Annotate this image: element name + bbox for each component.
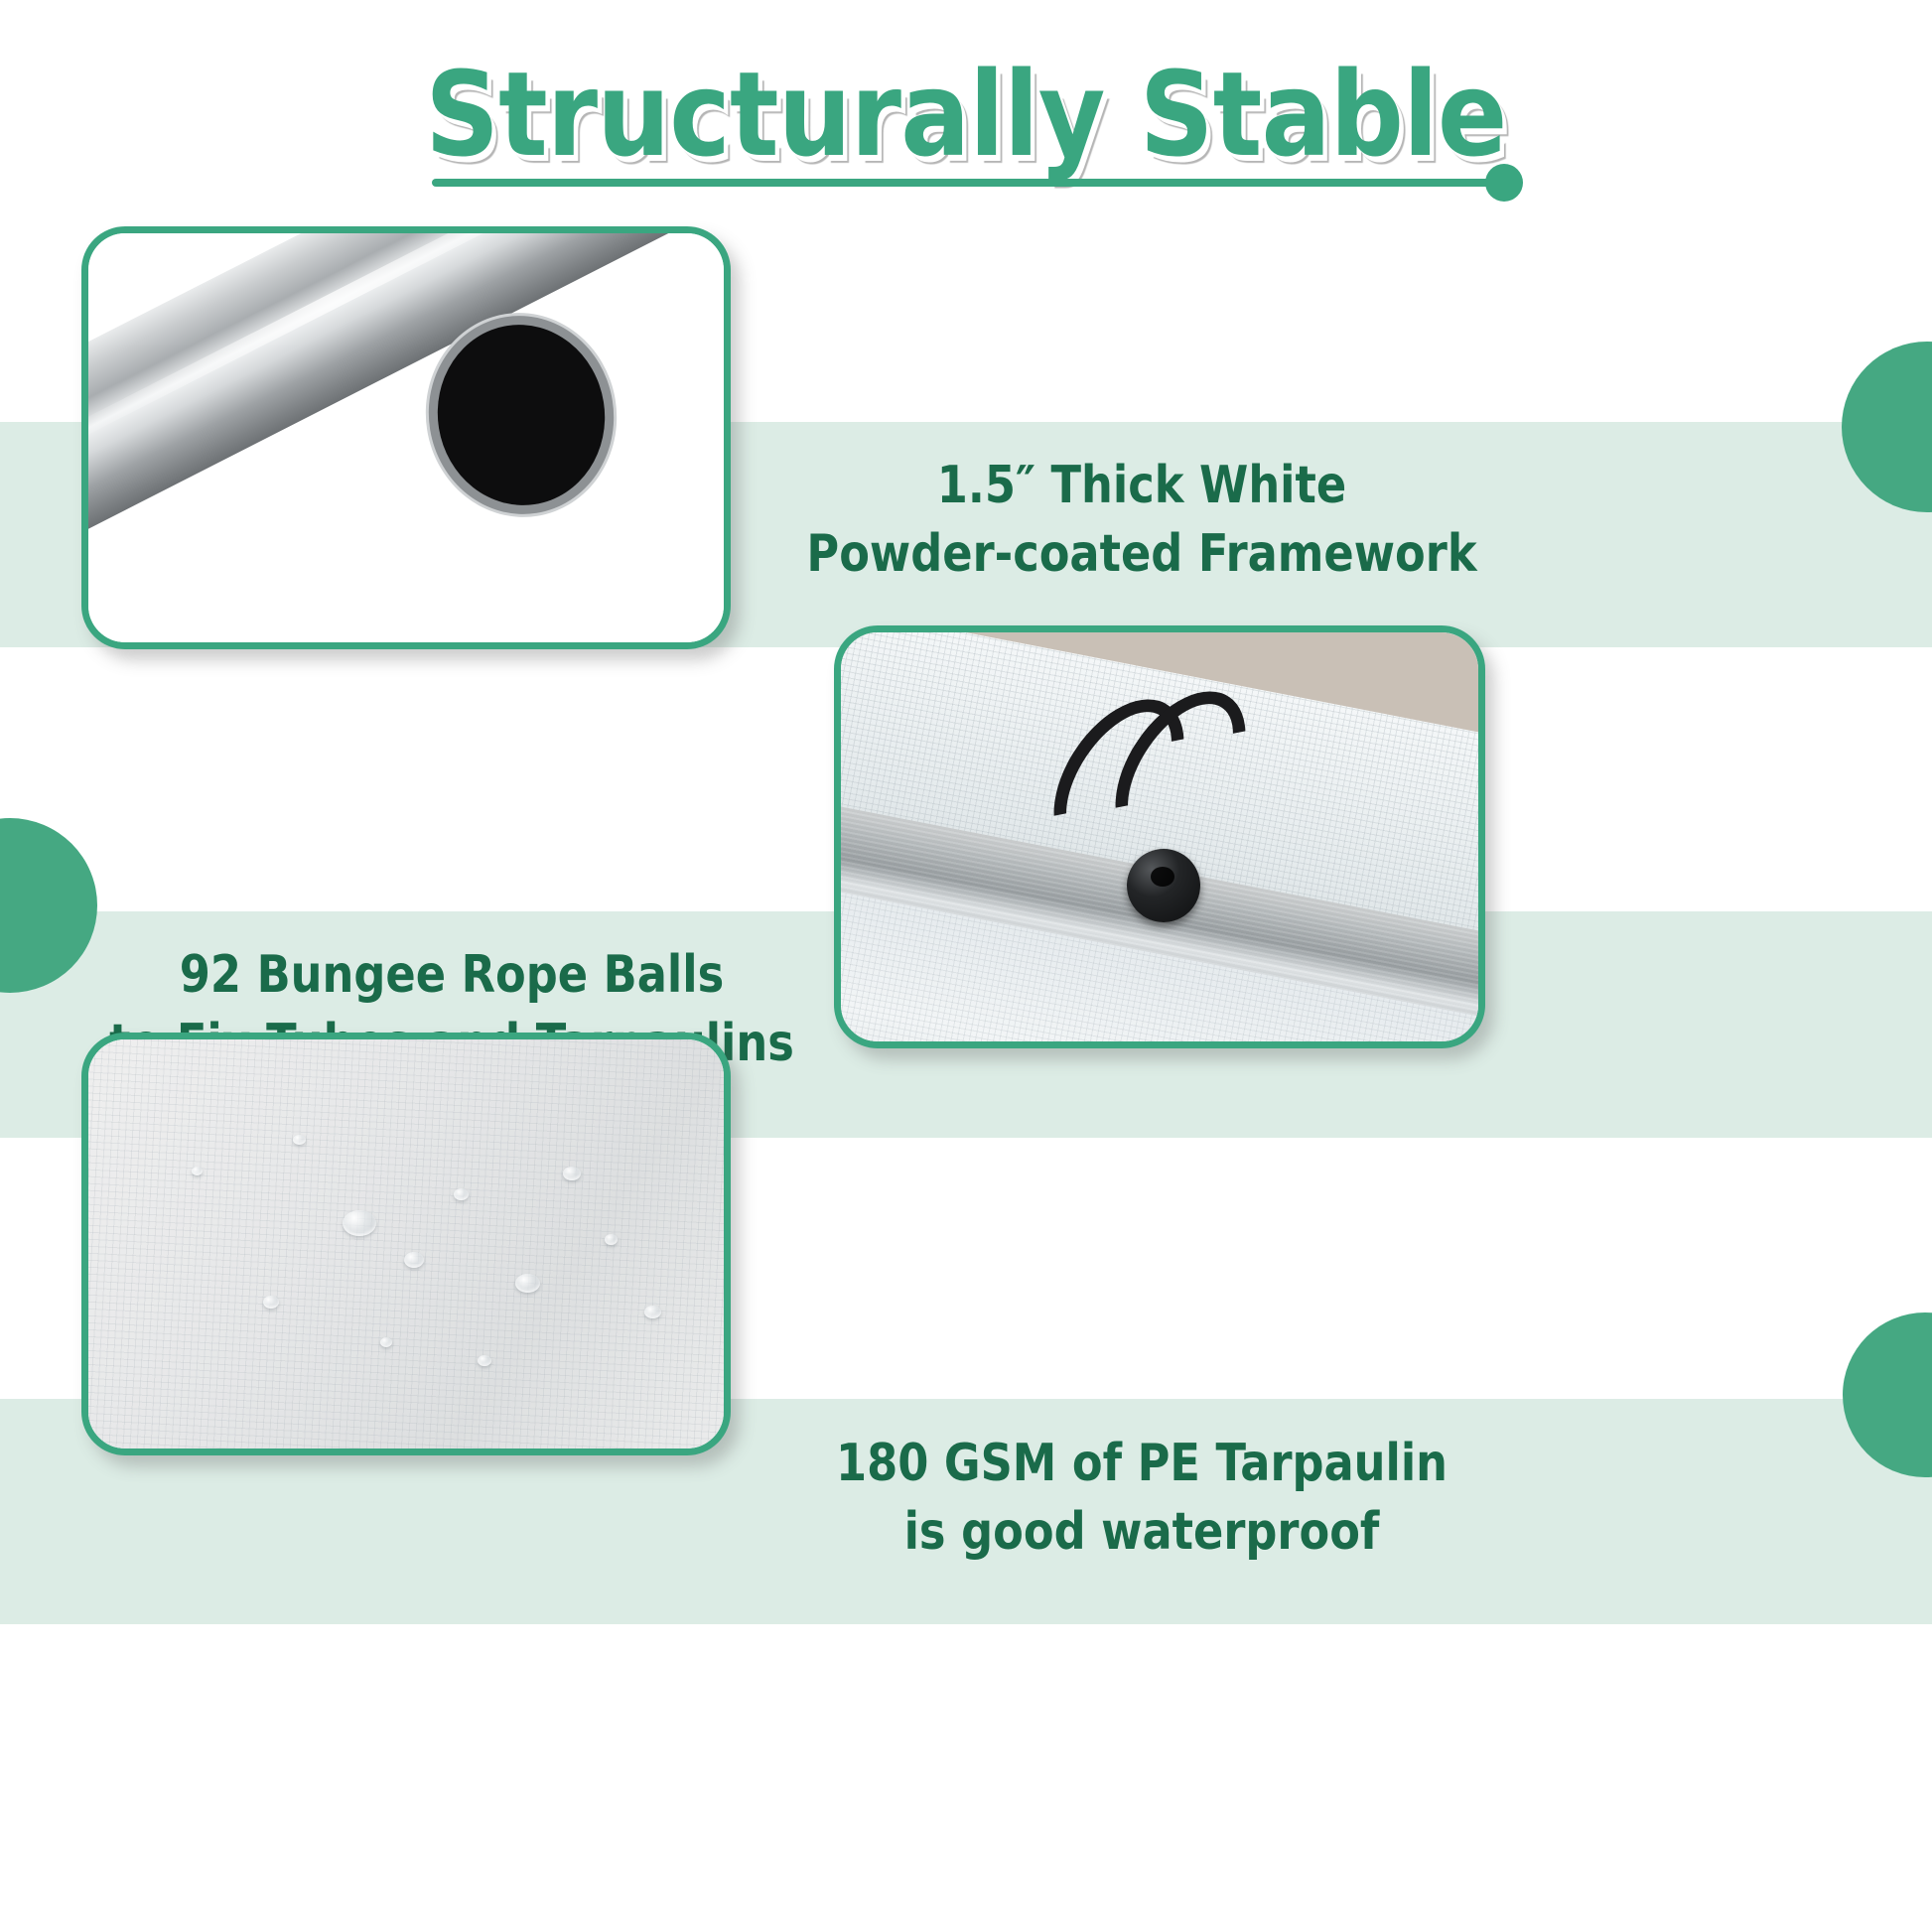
water-droplet: [293, 1135, 306, 1145]
feature-line-1: 180 GSM of PE Tarpaulin: [836, 1430, 1448, 1498]
infographic-stage: Structurally Stable 1.5″ Thick White Pow…: [0, 0, 1932, 1932]
page-title-wrap: Structurally Stable: [0, 52, 1932, 178]
water-droplet: [454, 1188, 469, 1200]
tarpaulin-fabric: [88, 1039, 724, 1449]
water-droplet: [263, 1296, 279, 1309]
photo-bungee: [841, 632, 1478, 1041]
feature-line-1: 1.5″ Thick White: [806, 452, 1476, 520]
water-droplet: [644, 1306, 661, 1318]
feature-text-framework: 1.5″ Thick White Powder-coated Framework: [806, 452, 1476, 588]
title-underline-rule: [432, 179, 1514, 187]
feature-text-tarpaulin: 180 GSM of PE Tarpaulin is good waterpro…: [836, 1430, 1448, 1566]
photo-framework: [88, 233, 724, 642]
feature-line-2: Powder-coated Framework: [806, 520, 1476, 589]
page-title: Structurally Stable: [425, 52, 1506, 178]
water-droplet: [343, 1210, 376, 1236]
photo-card-tarpaulin: [81, 1033, 731, 1455]
bungee-ball-hole: [1151, 867, 1174, 887]
water-droplet: [404, 1252, 424, 1268]
photo-card-framework: [81, 226, 731, 649]
photo-card-bungee: [834, 625, 1485, 1048]
feature-line-2: is good waterproof: [836, 1498, 1448, 1567]
water-droplet: [478, 1355, 491, 1366]
water-droplet: [605, 1234, 618, 1245]
photo-tarpaulin: [88, 1039, 724, 1449]
water-droplet: [192, 1167, 203, 1175]
title-underline-dot: [1485, 164, 1523, 202]
feature-line-1: 92 Bungee Rope Balls: [109, 941, 794, 1010]
water-droplet: [515, 1274, 540, 1293]
water-droplet: [380, 1337, 392, 1347]
water-droplet: [563, 1167, 581, 1180]
